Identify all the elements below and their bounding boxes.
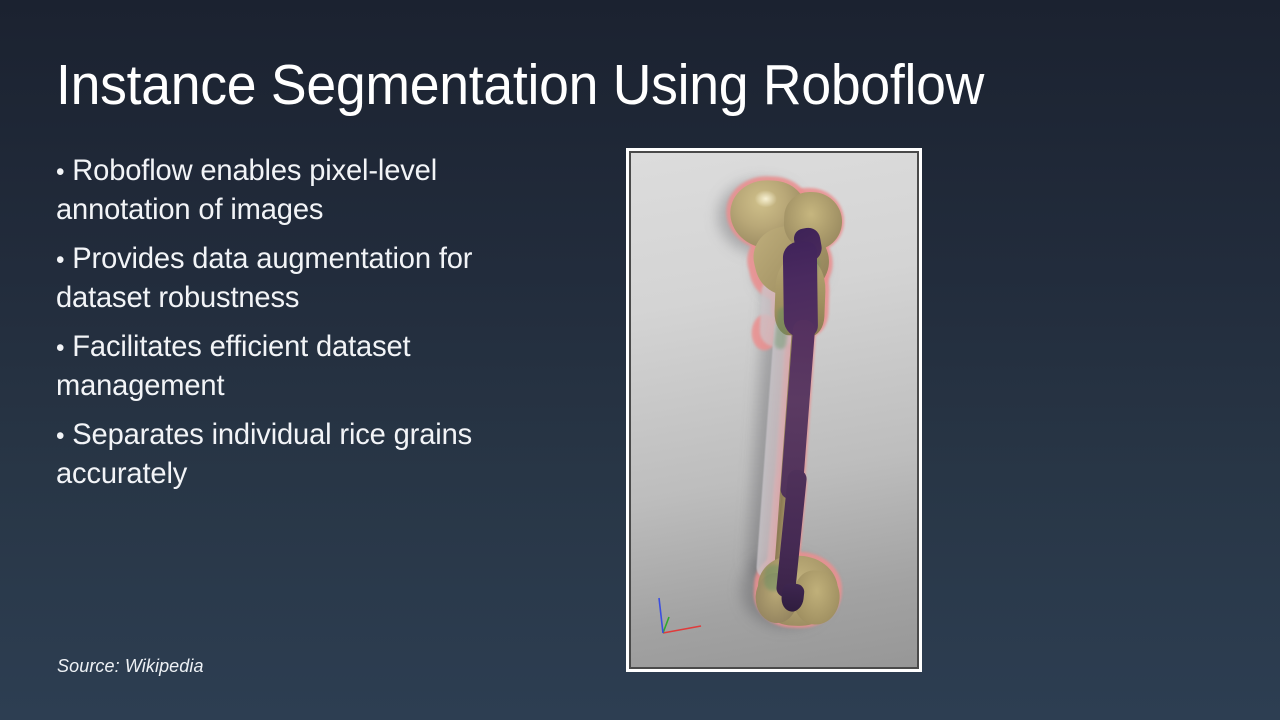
list-item-label: Facilitates efficient dataset management bbox=[56, 330, 410, 402]
axis-gizmo-icon bbox=[653, 595, 705, 639]
source-attribution: Source: Wikipedia bbox=[57, 656, 204, 677]
bullet-marker-icon: • bbox=[56, 246, 64, 274]
bullet-marker-icon: • bbox=[56, 422, 64, 450]
list-item: • Facilitates efficient dataset manageme… bbox=[56, 328, 570, 405]
bullet-marker-icon: • bbox=[56, 158, 64, 186]
z-axis-line bbox=[659, 598, 663, 633]
list-item: • Provides data augmentation for dataset… bbox=[56, 240, 570, 317]
femur-bone-illustration bbox=[696, 166, 864, 641]
list-item-label: Separates individual rice grains accurat… bbox=[56, 418, 472, 490]
list-item: • Separates individual rice grains accur… bbox=[56, 416, 570, 493]
list-item: • Roboflow enables pixel-level annotatio… bbox=[56, 152, 570, 229]
figure-inner-border bbox=[629, 151, 919, 669]
y-axis-line bbox=[663, 617, 669, 633]
marrow-cavity-layer bbox=[696, 166, 864, 641]
figure-frame bbox=[626, 148, 922, 672]
bullet-list: • Roboflow enables pixel-level annotatio… bbox=[56, 152, 586, 504]
page-title: Instance Segmentation Using Roboflow bbox=[56, 52, 1118, 118]
figure-viewport bbox=[631, 153, 917, 667]
list-item-label: Provides data augmentation for dataset r… bbox=[56, 242, 472, 314]
bullet-marker-icon: • bbox=[56, 334, 64, 362]
list-item-label: Roboflow enables pixel-level annotation … bbox=[56, 154, 437, 226]
marrow-distal-end bbox=[780, 583, 805, 613]
x-axis-line bbox=[663, 626, 701, 633]
